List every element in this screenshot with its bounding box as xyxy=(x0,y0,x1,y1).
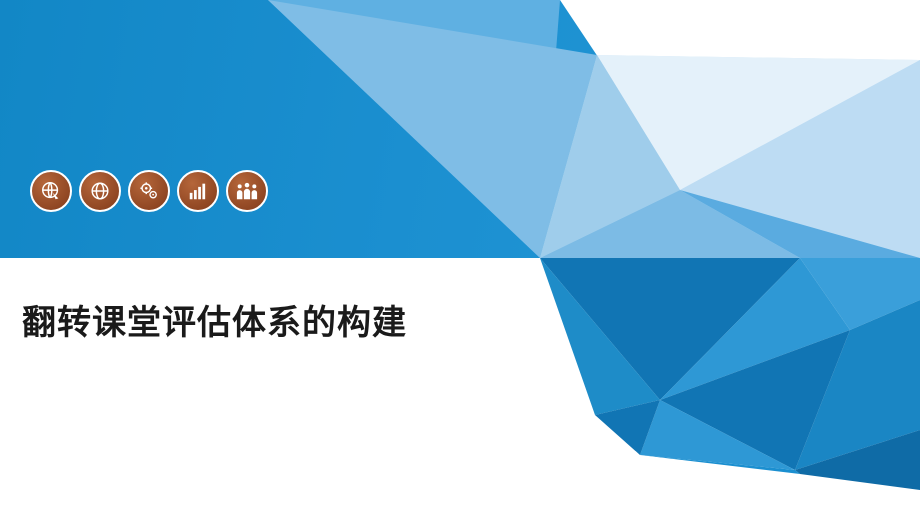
people-group-icon xyxy=(226,170,268,212)
polygon-artwork xyxy=(0,0,920,518)
tagline-text: 数智创新 变革未来 xyxy=(732,28,898,55)
bar-chart-icon xyxy=(177,170,219,212)
icon-row xyxy=(30,170,268,212)
globe-icon xyxy=(79,170,121,212)
title-slide: 数智创新 变革未来 xyxy=(0,0,920,518)
gears-icon xyxy=(128,170,170,212)
page-title: 翻转课堂评估体系的构建 xyxy=(22,295,407,344)
globe-cursor-icon xyxy=(30,170,72,212)
